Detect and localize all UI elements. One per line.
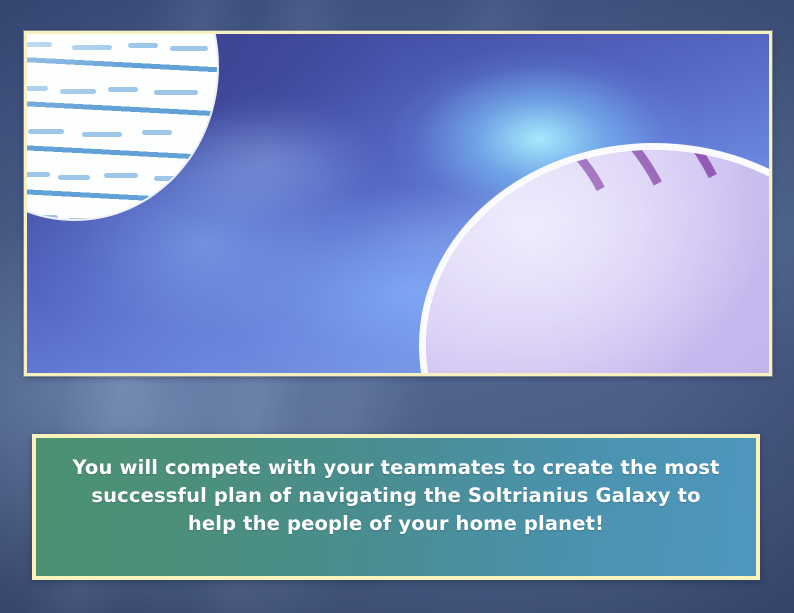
striped-planet-highlight — [24, 31, 217, 219]
picture-frame[interactable] — [24, 31, 772, 376]
slide-canvas: You will compete with your teammates to … — [0, 0, 794, 613]
lavender-planet-highlight — [426, 150, 772, 376]
striped-planet — [24, 31, 217, 219]
caption-box[interactable]: You will compete with your teammates to … — [32, 434, 760, 580]
caption-text: You will compete with your teammates to … — [70, 454, 722, 538]
lavender-planet — [419, 143, 772, 376]
